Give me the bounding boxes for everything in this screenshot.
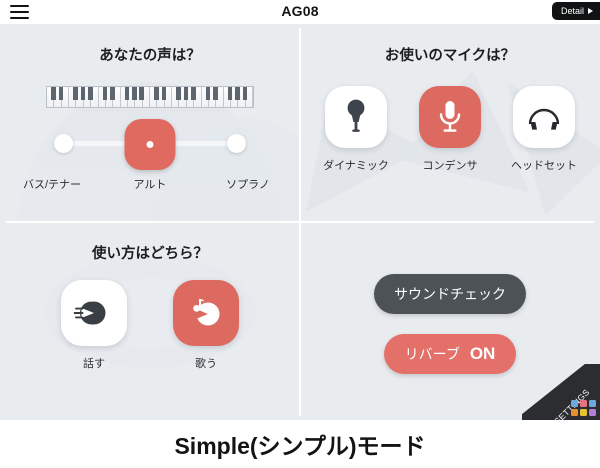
mic-label-headset: ヘッドセット	[511, 157, 577, 173]
usage-option-talk[interactable]: 話す	[47, 280, 141, 371]
piano-black-key	[206, 87, 211, 100]
piano-white-key	[69, 87, 76, 107]
piano-white-key	[172, 87, 179, 107]
pad-cell-3[interactable]	[589, 400, 596, 407]
pad-settings-ribbon[interactable]: PAD SETTINGS	[522, 364, 600, 420]
reverb-toggle-button[interactable]: リバーブ ON	[384, 334, 516, 374]
voice-option-soprano[interactable]: ソプラノ	[206, 176, 290, 192]
usage-card-sing[interactable]	[173, 280, 239, 346]
usage-option-sing[interactable]: 歌う	[159, 280, 253, 371]
piano-black-key	[154, 87, 159, 100]
usage-option-list: 話す 歌う	[0, 280, 300, 371]
singing-head-icon	[185, 296, 227, 330]
mic-label-condenser: コンデンサ	[423, 157, 478, 173]
pad-cell-1[interactable]	[571, 400, 578, 407]
piano-white-key	[99, 87, 106, 107]
piano-black-key	[51, 87, 56, 100]
piano-black-key	[103, 87, 108, 100]
piano-white-key	[150, 87, 157, 107]
mic-card-headset[interactable]	[513, 86, 575, 148]
panel-mic-type: お使いのマイクは？ ダイナミック	[300, 24, 600, 222]
piano-black-key	[176, 87, 181, 100]
usage-card-talk[interactable]	[61, 280, 127, 346]
app-header: AG08 Detail	[0, 0, 600, 24]
pad-cell-6[interactable]	[589, 409, 596, 416]
control-button-column: サウンドチェック リバーブ ON	[300, 274, 600, 374]
piano-black-key	[213, 87, 218, 100]
voice-panel-title: あなたの声は？	[0, 44, 300, 65]
piano-black-key	[228, 87, 233, 100]
footer-caption-bar: Simple(シンプル)モード	[0, 420, 600, 468]
dynamic-microphone-icon	[339, 98, 373, 136]
slider-thumb-alto[interactable]	[125, 119, 176, 170]
piano-white-key	[224, 87, 231, 107]
usage-label-talk: 話す	[83, 355, 105, 371]
piano-black-key	[184, 87, 189, 100]
panel-usage-type: 使い方はどちら？ 話す	[0, 222, 300, 420]
ag08-app-window: AG08 Detail あなたの声は？	[0, 0, 600, 468]
pad-grid-icon[interactable]	[571, 400, 596, 416]
reverb-state-label: ON	[470, 344, 496, 364]
horizontal-divider	[6, 221, 594, 223]
app-title: AG08	[0, 3, 600, 19]
headset-icon	[525, 101, 563, 133]
detail-button-label: Detail	[561, 6, 584, 16]
piano-black-key	[162, 87, 167, 100]
pad-cell-2[interactable]	[580, 400, 587, 407]
sound-check-label: サウンドチェック	[394, 284, 506, 304]
slider-endpoint-soprano[interactable]	[227, 134, 246, 153]
slider-endpoint-bass[interactable]	[54, 134, 73, 153]
mic-option-condenser[interactable]: コンデンサ	[403, 86, 497, 173]
pad-cell-5[interactable]	[580, 409, 587, 416]
mic-option-list: ダイナミック コンデンサ	[300, 86, 600, 173]
main-content: あなたの声は？	[0, 24, 600, 420]
voice-option-alto[interactable]: アルト	[108, 176, 192, 192]
piano-black-key	[139, 87, 144, 100]
piano-black-key	[243, 87, 248, 100]
piano-black-key	[81, 87, 86, 100]
piano-black-key	[132, 87, 137, 100]
mic-label-dynamic: ダイナミック	[323, 157, 389, 173]
mode-caption: Simple(シンプル)モード	[174, 427, 425, 461]
detail-button[interactable]: Detail	[552, 2, 600, 20]
reverb-label: リバーブ	[405, 344, 460, 364]
condenser-microphone-icon	[435, 98, 465, 136]
play-triangle-icon	[588, 8, 593, 14]
speaking-head-icon	[73, 296, 115, 330]
piano-white-key	[121, 87, 128, 107]
mic-option-dynamic[interactable]: ダイナミック	[309, 86, 403, 173]
usage-label-sing: 歌う	[195, 355, 217, 371]
sound-check-button[interactable]: サウンドチェック	[374, 274, 526, 314]
mic-card-dynamic[interactable]	[325, 86, 387, 148]
piano-black-key	[73, 87, 78, 100]
voice-slider-labels: バス/テナー アルト ソプラノ	[10, 176, 290, 192]
mic-card-condenser[interactable]	[419, 86, 481, 148]
panel-controls: サウンドチェック リバーブ ON PAD SETTINGS	[300, 222, 600, 420]
piano-keyboard-graphic	[46, 86, 254, 108]
usage-panel-title: 使い方はどちら？	[0, 242, 300, 263]
piano-black-key	[235, 87, 240, 100]
mic-option-headset[interactable]: ヘッドセット	[497, 86, 591, 173]
piano-black-key	[88, 87, 93, 100]
piano-white-key	[202, 87, 209, 107]
pad-cell-4[interactable]	[571, 409, 578, 416]
voice-option-bass-tenor[interactable]: バス/テナー	[10, 176, 94, 192]
mic-panel-title: お使いのマイクは？	[300, 44, 600, 65]
piano-black-key	[59, 87, 64, 100]
piano-black-key	[191, 87, 196, 100]
slider-thumb-dot	[147, 141, 154, 148]
piano-black-key	[125, 87, 130, 100]
piano-white-key	[47, 87, 54, 107]
panel-voice-type: あなたの声は？	[0, 24, 300, 222]
voice-range-slider[interactable]	[54, 119, 246, 169]
piano-black-key	[110, 87, 115, 100]
